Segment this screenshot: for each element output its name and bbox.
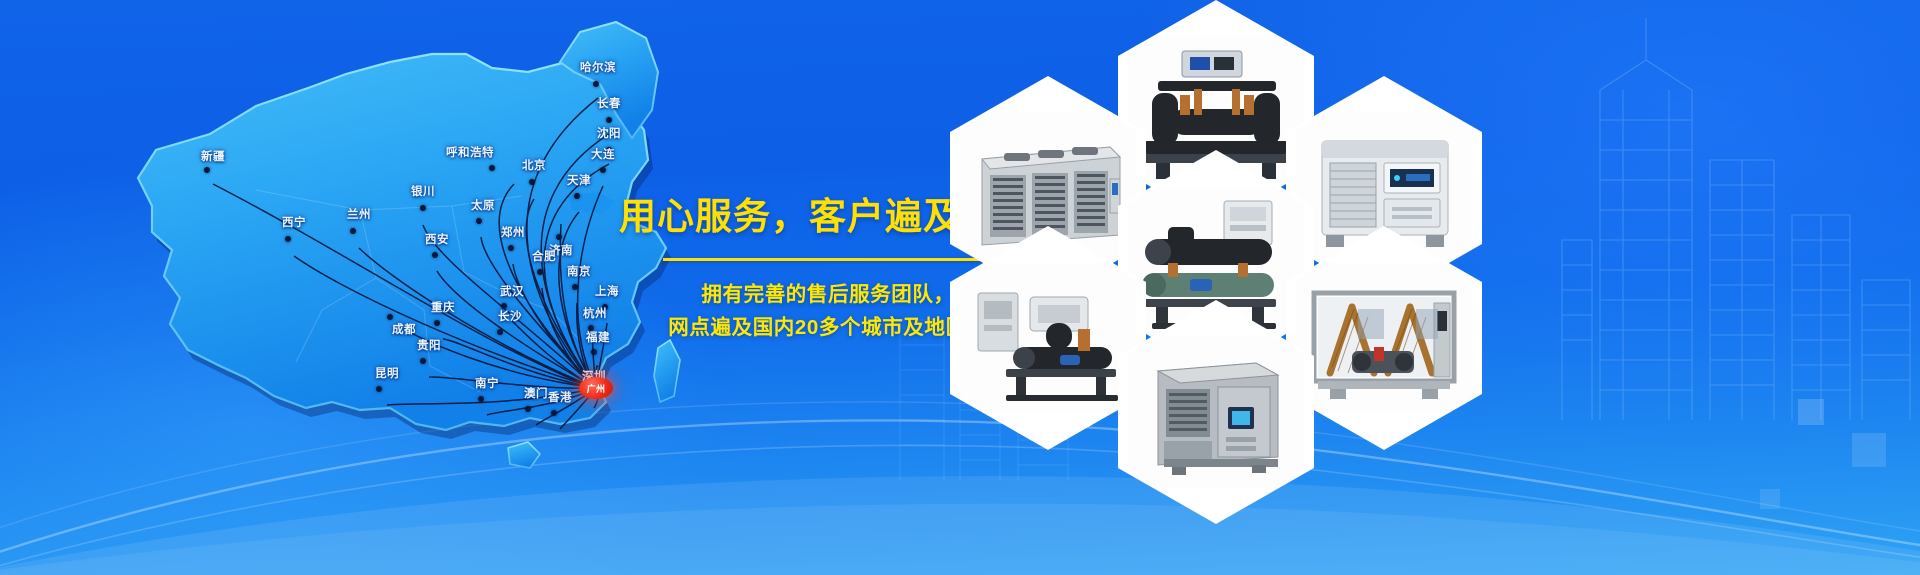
city-dot[interactable]	[508, 245, 514, 251]
city-label: 大连	[591, 146, 615, 162]
city-dot[interactable]	[529, 179, 535, 185]
city-label: 西安	[425, 231, 449, 247]
city-label: 沈阳	[597, 125, 621, 141]
city-dot[interactable]	[593, 81, 599, 87]
city-dot[interactable]	[600, 167, 606, 173]
city-label: 呼和浩特	[446, 144, 494, 160]
city-dot[interactable]	[387, 314, 393, 320]
city-label: 贵阳	[417, 337, 441, 353]
city-dot[interactable]	[606, 117, 612, 123]
city-dot[interactable]	[432, 252, 438, 258]
city-dot[interactable]	[376, 386, 382, 392]
city-label: 新疆	[201, 148, 225, 164]
city-label: 福建	[586, 329, 610, 345]
product-hex-grid	[950, 0, 1570, 575]
city-dot[interactable]	[476, 218, 482, 224]
city-label: 南宁	[475, 375, 499, 391]
city-dot[interactable]	[574, 193, 580, 199]
city-dot[interactable]	[551, 410, 557, 416]
city-label: 银川	[411, 183, 435, 199]
city-label: 长沙	[498, 308, 522, 324]
city-label: 上海	[595, 283, 619, 299]
low-temp-chiller-cabinet-image	[1128, 337, 1304, 487]
city-label: 郑州	[501, 224, 525, 240]
screw-compressor-unit-image	[960, 263, 1136, 413]
city-dot[interactable]	[350, 228, 356, 234]
air-cooled-screw-chiller-image	[1296, 263, 1472, 413]
city-label: 哈尔滨	[580, 59, 616, 75]
city-label: 杭州	[583, 305, 607, 321]
city-label: 西宁	[282, 214, 306, 230]
city-label: 昆明	[375, 365, 399, 381]
city-label: 兰州	[347, 206, 371, 222]
city-label: 太原	[471, 197, 495, 213]
city-dot[interactable]	[556, 234, 562, 240]
city-dot[interactable]	[434, 320, 440, 326]
city-dot[interactable]	[525, 406, 531, 412]
city-label: 重庆	[431, 299, 455, 315]
city-dot[interactable]	[478, 396, 484, 402]
city-dot[interactable]	[572, 284, 578, 290]
city-label: 香港	[548, 389, 572, 405]
city-dot[interactable]	[591, 349, 597, 355]
hub-marker-guangzhou[interactable]: 广州	[579, 377, 613, 399]
city-label: 天津	[567, 172, 591, 188]
decorative-square	[1760, 489, 1780, 509]
city-label: 长春	[597, 95, 621, 111]
city-dot[interactable]	[204, 167, 210, 173]
city-dot[interactable]	[537, 269, 543, 275]
city-label: 澳门	[524, 385, 548, 401]
city-label: 南京	[567, 263, 591, 279]
city-dot[interactable]	[489, 165, 495, 171]
decorative-square	[1852, 433, 1886, 467]
city-label: 成都	[392, 321, 416, 337]
decorative-square	[1798, 399, 1824, 425]
city-dot[interactable]	[420, 358, 426, 364]
city-label: 武汉	[500, 283, 524, 299]
city-label: 北京	[522, 157, 546, 173]
city-dot[interactable]	[497, 329, 503, 335]
promo-banner: 新疆哈尔滨长春沈阳呼和浩特北京天津大连银川太原兰州西宁济南郑州西安合肥南京上海杭…	[0, 0, 1920, 575]
city-dot[interactable]	[285, 236, 291, 242]
city-label: 合肥	[532, 248, 556, 264]
city-dot[interactable]	[420, 205, 426, 211]
headline-divider	[663, 258, 993, 261]
